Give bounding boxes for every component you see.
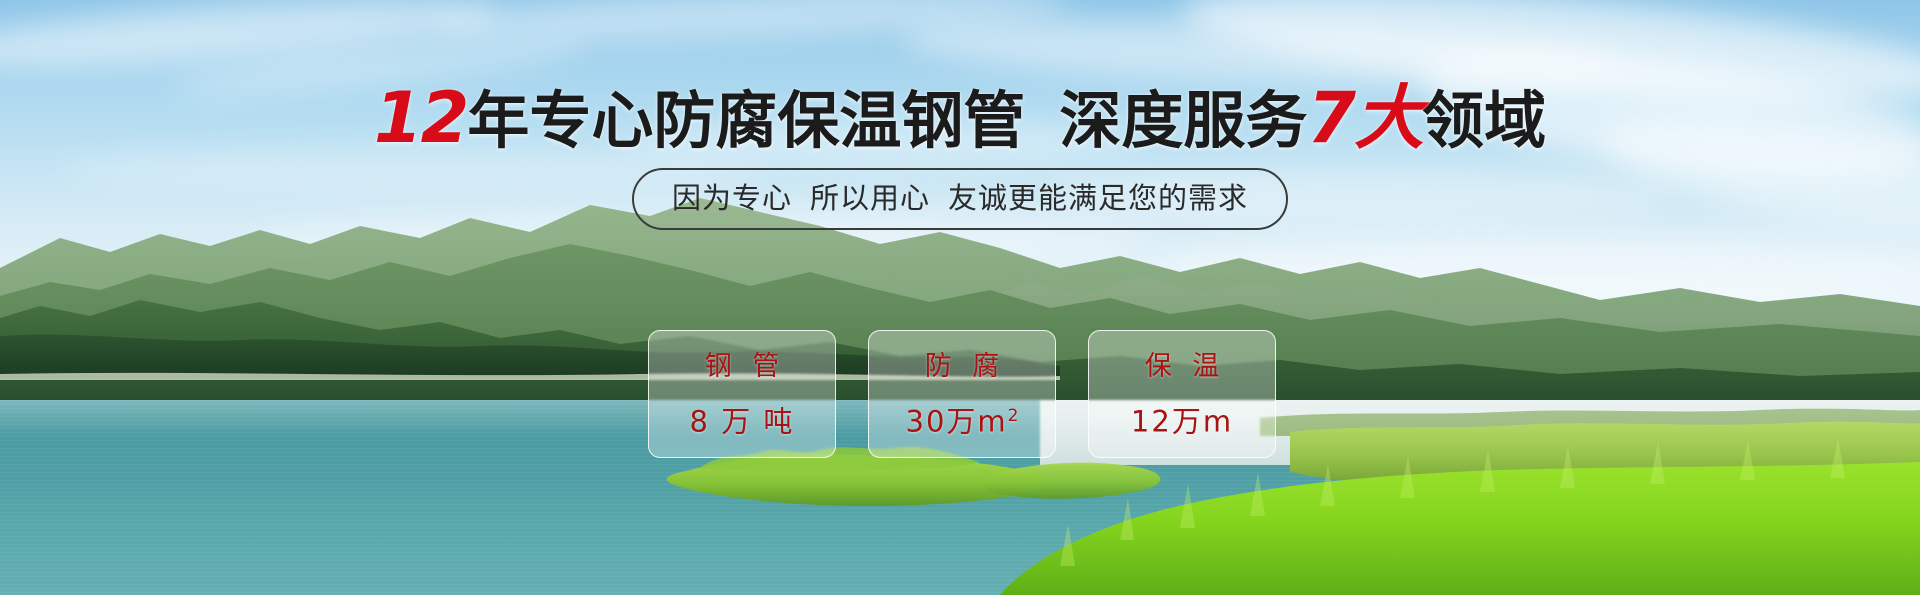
headline-years-number: 12	[374, 77, 467, 159]
stat-card-label: 保 温	[1139, 349, 1226, 385]
stat-card-label: 防 腐	[919, 349, 1006, 385]
stat-card-value-text: 8 万 吨	[690, 405, 795, 439]
stat-card-label: 钢 管	[699, 349, 786, 385]
banner-content: 12年专心防腐保温钢管深度服务7大领域 因为专心所以用心友诚更能满足您的需求 钢…	[0, 0, 1920, 595]
stat-card-value-text: 30万m	[906, 405, 1008, 439]
headline-part-two: 深度服务	[1059, 84, 1307, 157]
subtitle-pill: 因为专心所以用心友诚更能满足您的需求	[632, 168, 1288, 230]
subtitle-segment-three: 友诚更能满足您的需求	[948, 181, 1248, 215]
stat-card-group: 钢 管 8 万 吨 防 腐 30万m2 保 温 12万m	[648, 330, 1276, 458]
promo-banner: 12年专心防腐保温钢管深度服务7大领域 因为专心所以用心友诚更能满足您的需求 钢…	[0, 0, 1920, 595]
stat-card[interactable]: 防 腐 30万m2	[868, 330, 1056, 458]
stat-card-value: 12万m	[1131, 399, 1233, 439]
stat-card-value: 8 万 吨	[690, 399, 795, 439]
headline: 12年专心防腐保温钢管深度服务7大领域	[0, 82, 1920, 157]
stat-card[interactable]: 保 温 12万m	[1088, 330, 1276, 458]
stat-card[interactable]: 钢 管 8 万 吨	[648, 330, 836, 458]
subtitle-container: 因为专心所以用心友诚更能满足您的需求	[0, 168, 1920, 230]
stat-card-value: 30万m2	[906, 399, 1019, 439]
subtitle-segment-two: 所以用心	[810, 181, 930, 215]
headline-highlight: 7大	[1307, 77, 1422, 159]
headline-part-one: 年专心防腐保温钢管	[467, 84, 1025, 157]
subtitle-segment-one: 因为专心	[672, 181, 792, 215]
stat-card-value-superscript: 2	[1008, 406, 1019, 426]
stat-card-value-text: 12万m	[1131, 405, 1233, 439]
headline-part-three: 领域	[1422, 84, 1546, 157]
